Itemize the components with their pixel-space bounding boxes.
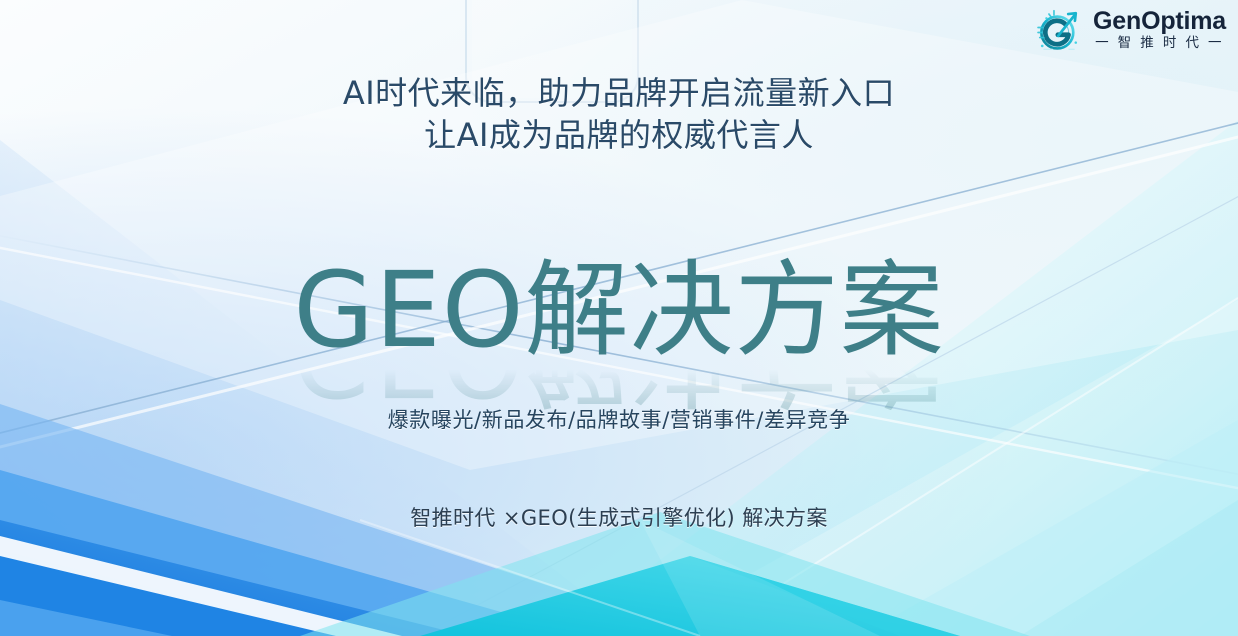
headline: AI时代来临，助力品牌开启流量新入口 让AI成为品牌的权威代言人 [0,72,1238,156]
headline-line-1: AI时代来临，助力品牌开启流量新入口 [0,72,1238,114]
footer-caption: 智推时代 ×GEO(生成式引擎优化) 解决方案 [0,502,1238,532]
keyword-list: 爆款曝光/新品发布/品牌故事/营销事件/差异竞争 [0,404,1238,434]
logo-wordmark: GenOptima [1093,9,1226,34]
brand-logo: GenOptima 一 智 推 时 代 一 [1032,4,1226,56]
genoptima-g-logo-icon [1032,4,1086,56]
page-title: GEO解决方案 [0,258,1238,362]
logo-tagline: 一 智 推 时 代 一 [1095,37,1224,51]
hero-title-block: GEO解决方案 GEO解决方案 [0,258,1238,410]
logo-text-block: GenOptima 一 智 推 时 代 一 [1093,9,1226,51]
presentation-slide: GenOptima 一 智 推 时 代 一 AI时代来临，助力品牌开启流量新入口… [0,0,1238,636]
headline-line-2: 让AI成为品牌的权威代言人 [0,114,1238,156]
